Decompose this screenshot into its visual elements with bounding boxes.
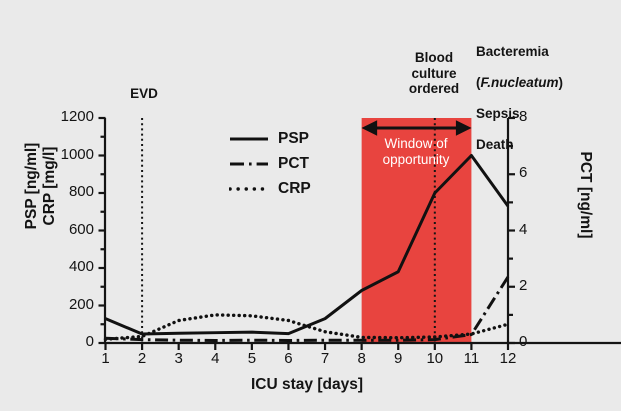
legend-swatch-psp [229, 132, 269, 146]
x-tick-6: 6 [273, 350, 303, 367]
x-tick-10: 10 [420, 350, 450, 367]
x-tick-7: 7 [310, 350, 340, 367]
x-tick-3: 3 [164, 350, 194, 367]
annotation-bacteremia-line1: Bacteremia [476, 44, 616, 60]
annotation-bacteremia-line2: (F.nucleatum) [476, 75, 616, 91]
legend-swatch-pct [229, 157, 269, 171]
annotation-bacteremia: Bacteremia (F.nucleatum) Sepsis Death [476, 28, 616, 168]
annotation-bacteremia-line4: Death [476, 137, 616, 153]
y-right-tick-0: 0 [519, 333, 559, 350]
x-tick-12: 12 [493, 350, 523, 367]
annotation-bacteremia-line3: Sepsis [476, 106, 616, 122]
x-tick-5: 5 [237, 350, 267, 367]
y-left-tick-0: 0 [32, 333, 94, 350]
annotation-evd: EVD [104, 86, 184, 102]
x-tick-1: 1 [91, 350, 121, 367]
legend-item-pct: PCT [229, 151, 311, 176]
chart-figure: 020040060080010001200 02468 123456789101… [0, 0, 621, 411]
paren-close: ) [559, 75, 564, 90]
legend-item-crp: CRP [229, 176, 311, 201]
y-right-tick-2: 2 [519, 277, 559, 294]
window-of-opportunity-label: Window of opportunity [360, 136, 472, 168]
legend-label-psp: PSP [278, 130, 309, 148]
legend-label-crp: CRP [278, 180, 311, 198]
x-tick-9: 9 [383, 350, 413, 367]
y-axis-left-title: PSP [ng/ml] CRP [mg/l] [23, 61, 59, 311]
y-right-tick-4: 4 [519, 221, 559, 238]
x-tick-4: 4 [200, 350, 230, 367]
legend-label-pct: PCT [278, 155, 309, 173]
chart-legend: PSPPCTCRP [229, 126, 311, 201]
x-tick-8: 8 [347, 350, 377, 367]
x-tick-2: 2 [127, 350, 157, 367]
annotation-blood-culture: Blood culture ordered [396, 50, 472, 97]
x-tick-11: 11 [456, 350, 486, 367]
legend-item-psp: PSP [229, 126, 311, 151]
x-axis-title: ICU stay [days] [106, 376, 508, 394]
species-name: F.nucleatum [481, 75, 559, 90]
legend-swatch-crp [229, 182, 269, 196]
